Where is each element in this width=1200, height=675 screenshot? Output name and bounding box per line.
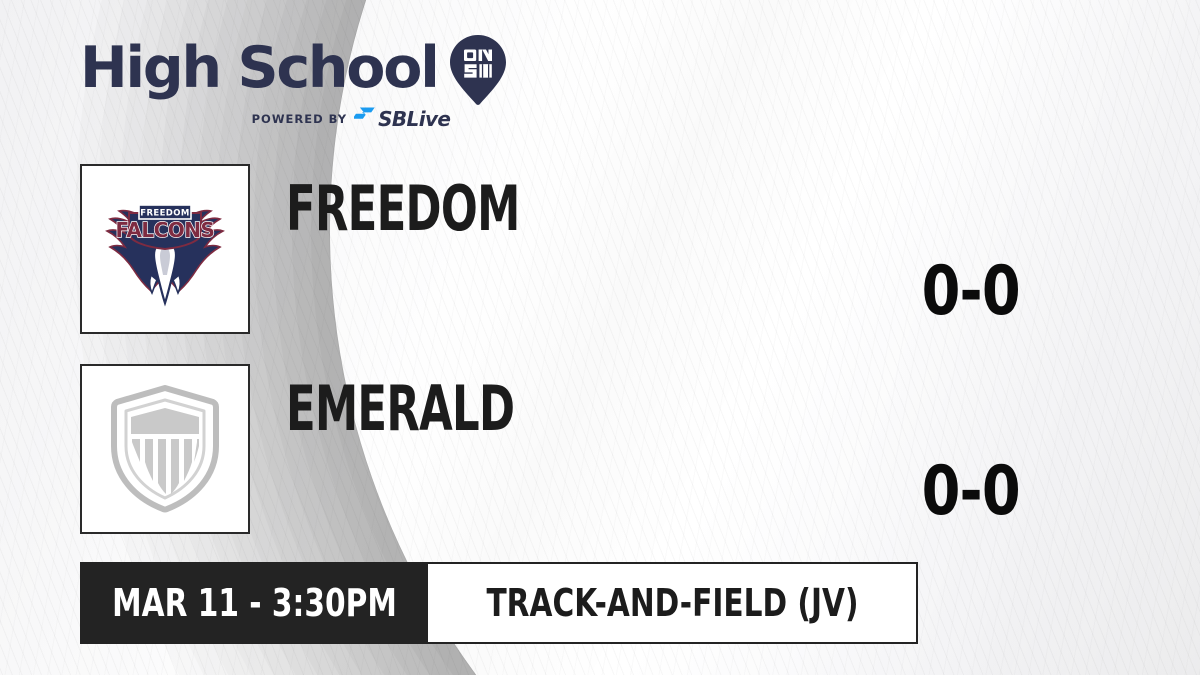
game-sport-text: TRACK-AND-FIELD (JV) [486,584,858,622]
sblive-wordmark: SBLive [378,107,450,131]
team-name: FREEDOM [286,178,520,240]
sblive-bolt-icon [354,106,376,131]
matchup-graphic: High School [0,0,1200,675]
team-logo-box [80,364,250,534]
team-record: 0-0 [922,258,1020,326]
team-record: 0-0 [922,458,1020,526]
on-si-pin-icon [450,35,506,105]
game-sport-block: TRACK-AND-FIELD (JV) [428,562,918,644]
brand-lockup: High School [80,36,510,100]
sblive-logo: SBLive [354,106,450,131]
placeholder-shield-icon [105,384,225,514]
powered-by-label: POWERED BY [252,112,347,126]
brand-header: High School [80,36,510,136]
freedom-falcons-logo-icon: FREEDOM FALCONS [99,183,231,315]
brand-wordmark: High School [80,39,438,97]
svg-text:FREEDOM: FREEDOM [140,209,190,219]
powered-by-lockup: POWERED BY SBLive [192,106,510,131]
svg-text:FALCONS: FALCONS [116,218,215,242]
team-name: EMERALD [286,378,514,440]
game-info-bar: MAR 11 - 3:30PM TRACK-AND-FIELD (JV) [80,562,918,644]
game-datetime-text: MAR 11 - 3:30PM [112,584,397,622]
team-logo-box: FREEDOM FALCONS [80,164,250,334]
game-datetime-block: MAR 11 - 3:30PM [80,562,428,644]
